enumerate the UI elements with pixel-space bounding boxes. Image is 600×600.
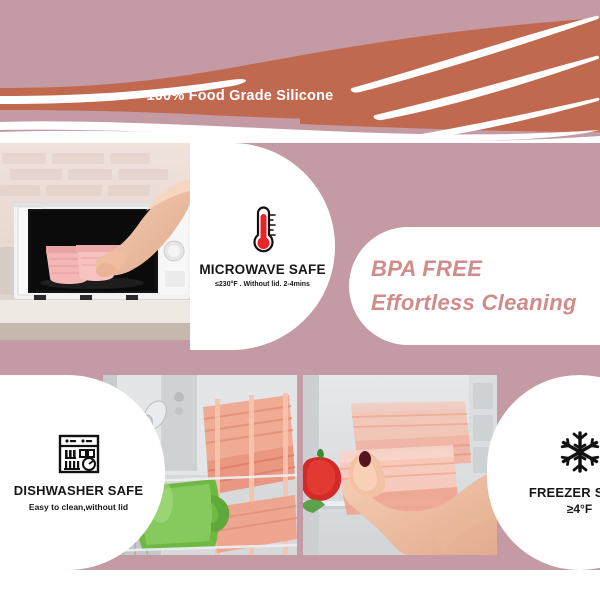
feature-title-dishwasher: DISHWASHER SAFE	[14, 483, 143, 498]
highlight-panel-bpa: BPA FREE Effortless Cleaning	[349, 227, 600, 345]
feature-subtitle-freezer: ≥4°F	[567, 502, 592, 516]
feature-subtitle-dishwasher: Easy to clean,without lid	[29, 502, 128, 512]
feature-subtitle-microwave: ≤230°F . Without lid. 2-4mins	[215, 281, 310, 288]
feature-title-freezer: FREEZER SAFE	[529, 485, 600, 500]
snowflake-icon	[557, 429, 600, 475]
bpa-free-line: BPA FREE	[371, 256, 482, 282]
effortless-cleaning-line: Effortless Cleaning	[371, 290, 577, 316]
header-banner: 100% Food Grade Silicone	[0, 0, 600, 143]
fridge-photo	[303, 375, 497, 555]
thermometer-icon	[247, 205, 279, 255]
bottom-white-strip	[0, 570, 600, 600]
feature-title-microwave: MICROWAVE SAFE	[199, 262, 325, 277]
infographic-canvas: 100% Food Grade Silicone	[0, 0, 600, 600]
feature-panel-freezer: FREEZER SAFE ≥4°F	[487, 375, 600, 570]
feature-panel-microwave: MICROWAVE SAFE ≤230°F . Without lid. 2-4…	[190, 143, 335, 350]
fork-illustration	[0, 0, 600, 143]
microwave-photo	[0, 143, 190, 340]
banner-title: 100% Food Grade Silicone	[0, 88, 480, 104]
dishwasher-icon	[57, 434, 101, 474]
